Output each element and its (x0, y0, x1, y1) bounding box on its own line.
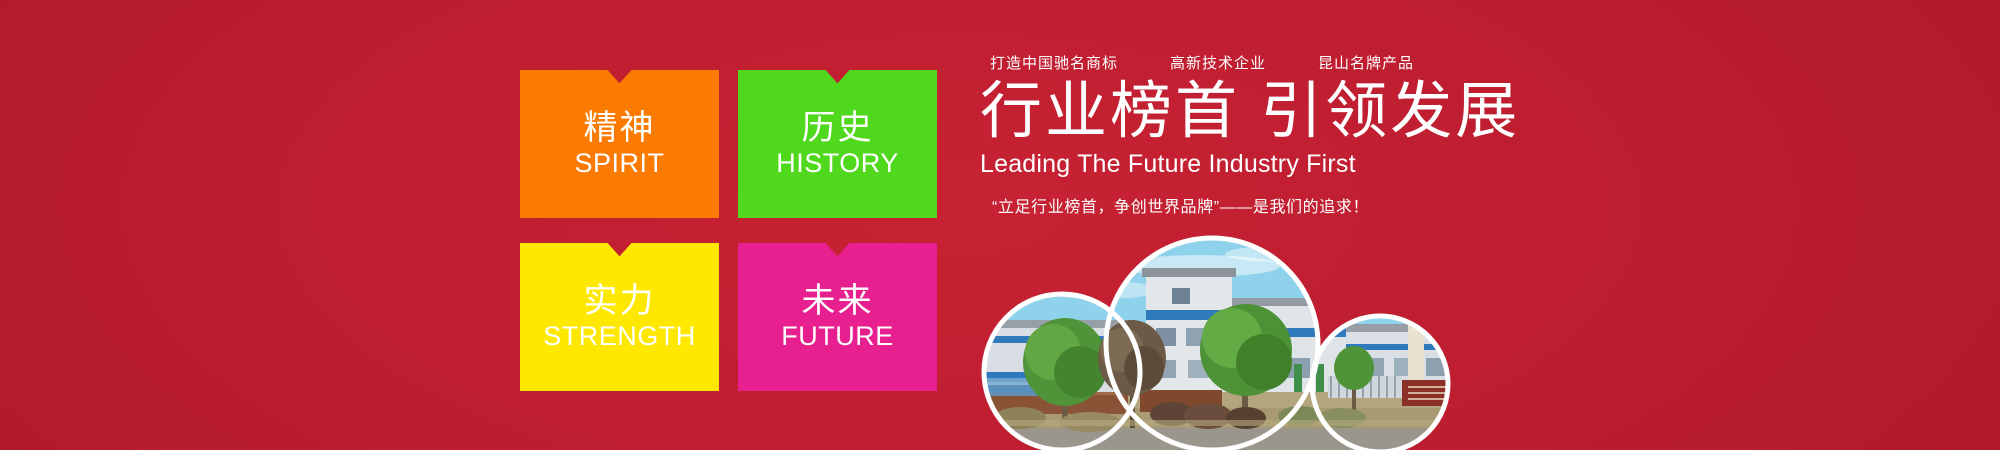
tile-future[interactable]: 未来 FUTURE (738, 243, 937, 391)
factory-photo-collage (950, 232, 1480, 450)
copy-block: 打造中国驰名商标 高新技术企业 昆山名牌产品 行业榜首 引领发展 Leading… (980, 52, 1540, 217)
tile-spirit-en: SPIRIT (574, 148, 664, 178)
tile-spirit[interactable]: 精神 SPIRIT (520, 70, 719, 218)
tile-history[interactable]: 历史 HISTORY (738, 70, 937, 218)
cloud-photo-svg (950, 232, 1480, 450)
eyebrow-item-0: 打造中国驰名商标 (990, 52, 1118, 73)
tile-strength-cn: 实力 (584, 283, 656, 320)
tile-history-cn: 历史 (802, 110, 874, 147)
value-tile-grid: 精神 SPIRIT 历史 HISTORY 实力 STRENGTH 未来 FUTU… (520, 70, 960, 395)
slogan-quote: “立足行业榜首，争创世界品牌”——是我们的追求！ (980, 193, 1540, 217)
eyebrow-item-1: 高新技术企业 (1170, 52, 1266, 73)
headline: 行业榜首 引领发展 (980, 79, 1540, 145)
eyebrow-item-2: 昆山名牌产品 (1318, 52, 1414, 73)
tile-strength[interactable]: 实力 STRENGTH (520, 243, 719, 391)
tile-spirit-cn: 精神 (584, 110, 656, 147)
tile-history-en: HISTORY (776, 148, 899, 178)
promo-banner: 精神 SPIRIT 历史 HISTORY 实力 STRENGTH 未来 FUTU… (0, 0, 2000, 450)
subheadline: Leading The Future Industry First (980, 149, 1540, 179)
tile-future-cn: 未来 (802, 283, 874, 320)
tile-future-en: FUTURE (781, 321, 894, 351)
photo-content (950, 232, 1480, 450)
eyebrow-list: 打造中国驰名商标 高新技术企业 昆山名牌产品 (980, 52, 1540, 73)
tile-strength-en: STRENGTH (543, 321, 696, 351)
